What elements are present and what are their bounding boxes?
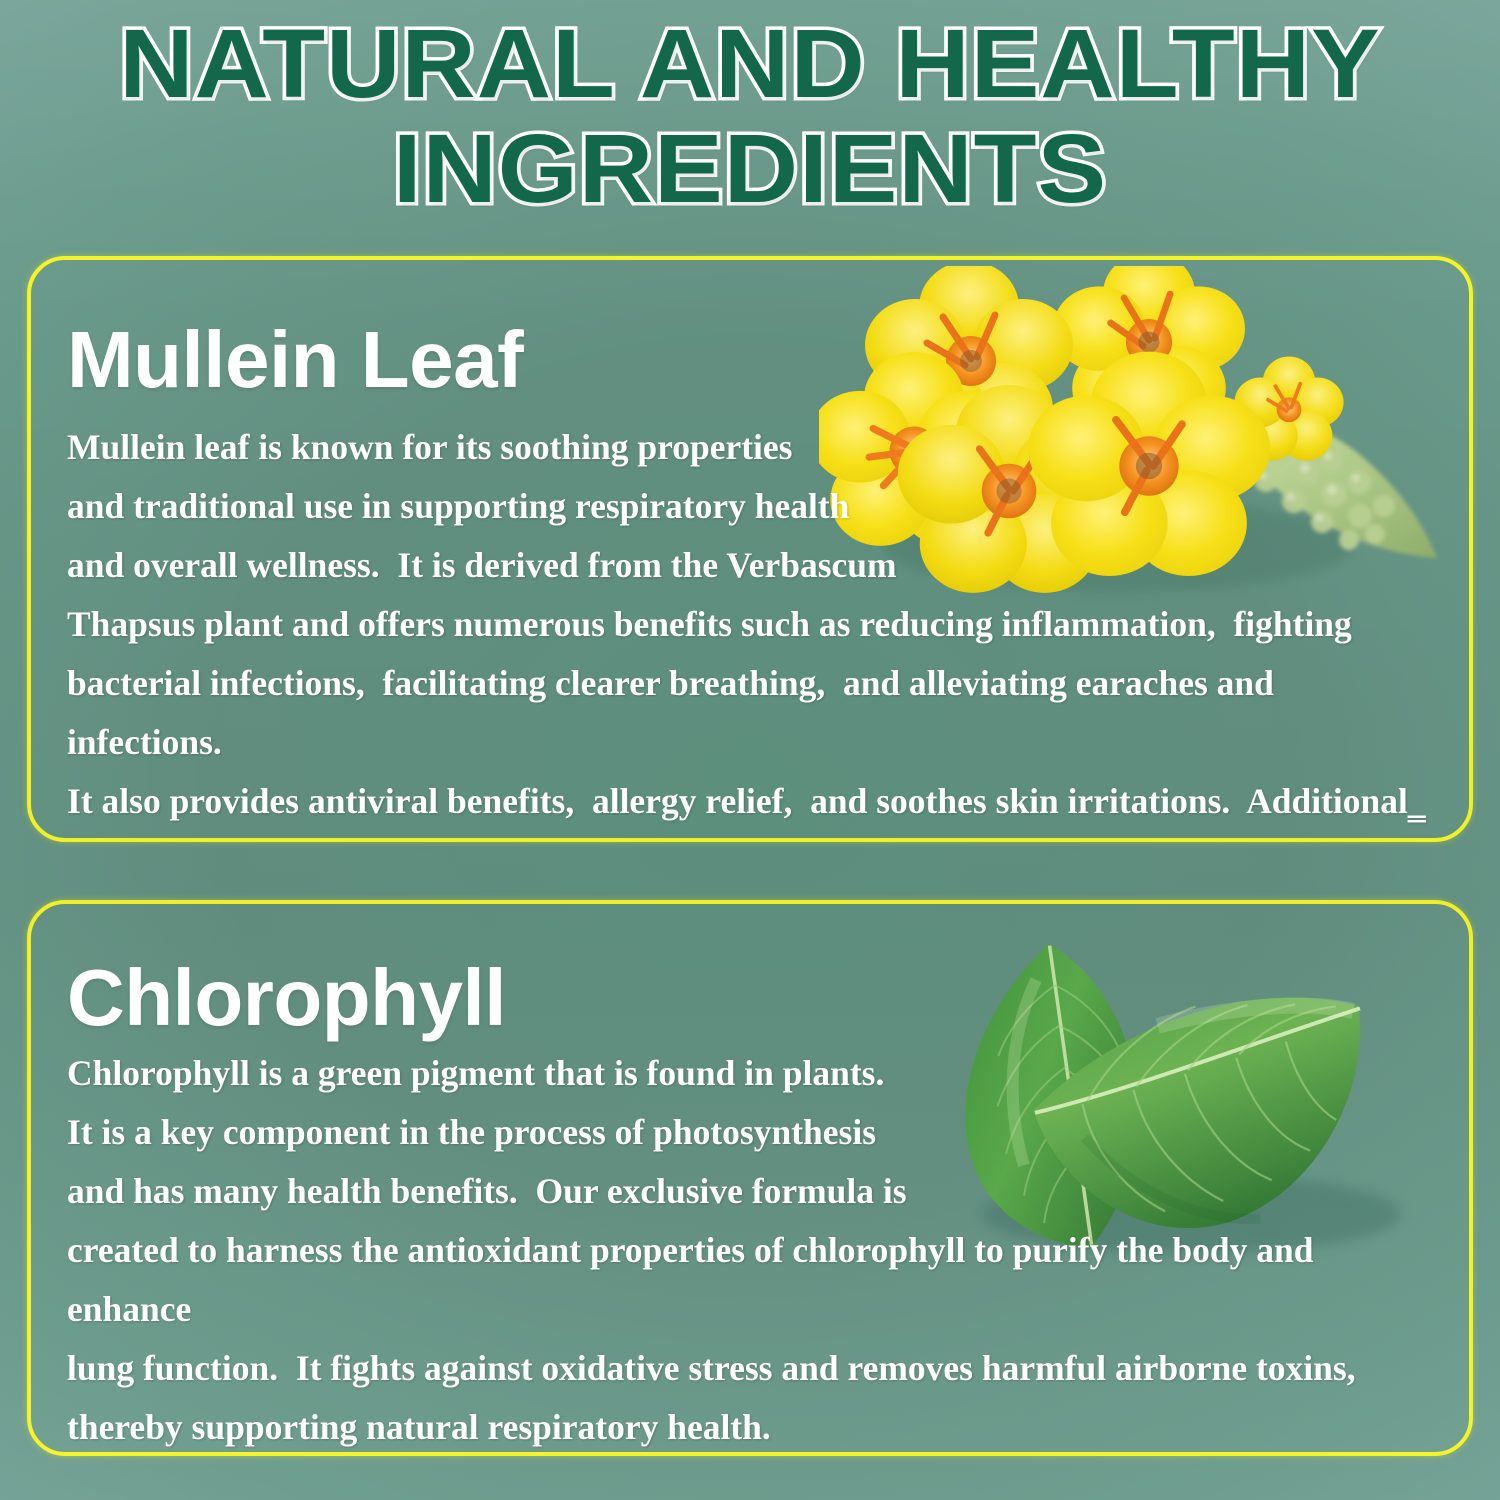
card-heading: Mullein Leaf (67, 320, 523, 400)
card-body: Chlorophyll Chlorophyll is a green pigme… (31, 904, 1469, 1452)
ingredient-card-chlorophyll: Chlorophyll Chlorophyll is a green pigme… (27, 900, 1473, 1456)
ingredients-poster: NATURAL AND HEALTHY INGREDIENTS (0, 0, 1500, 1500)
card-heading: Chlorophyll (67, 958, 506, 1038)
card-description: Mullein leaf is known for its soothing p… (67, 418, 1437, 842)
page-title-line-2: INGREDIENTS (0, 121, 1500, 216)
ingredient-card-mullein-leaf: Mullein Leaf Mullein leaf is known for i… (27, 256, 1473, 842)
card-description: Chlorophyll is a green pigment that is f… (67, 1044, 1437, 1456)
card-body: Mullein Leaf Mullein leaf is known for i… (31, 260, 1469, 838)
page-title-line-1: NATURAL AND HEALTHY (0, 16, 1500, 111)
page-title: NATURAL AND HEALTHY INGREDIENTS (0, 16, 1500, 216)
